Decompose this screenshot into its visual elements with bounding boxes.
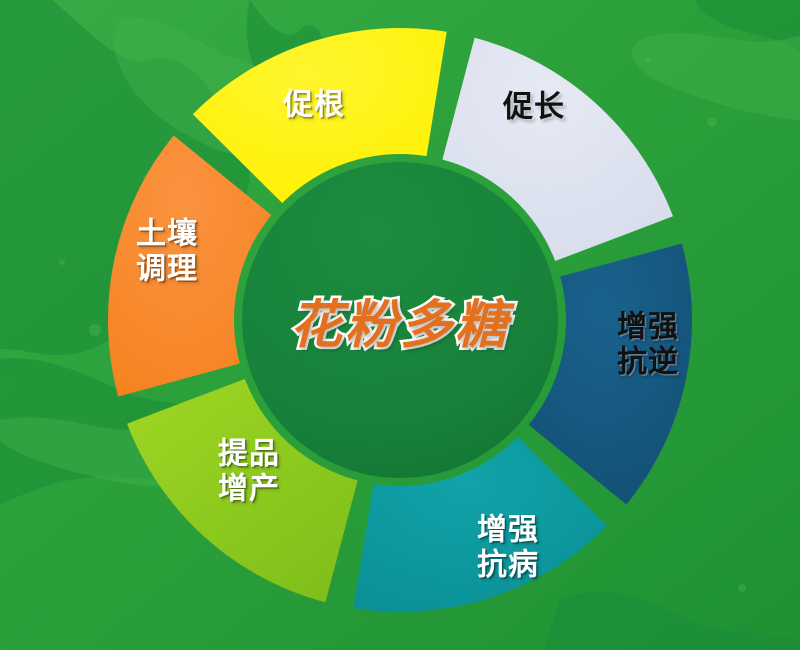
diagram-canvas: 促根 促长 增强 抗逆 增强 抗病 提品 增产 土壤 调理 花粉多糖 bbox=[0, 0, 800, 650]
cycle-wheel bbox=[0, 0, 800, 650]
hub-circle bbox=[242, 162, 558, 478]
